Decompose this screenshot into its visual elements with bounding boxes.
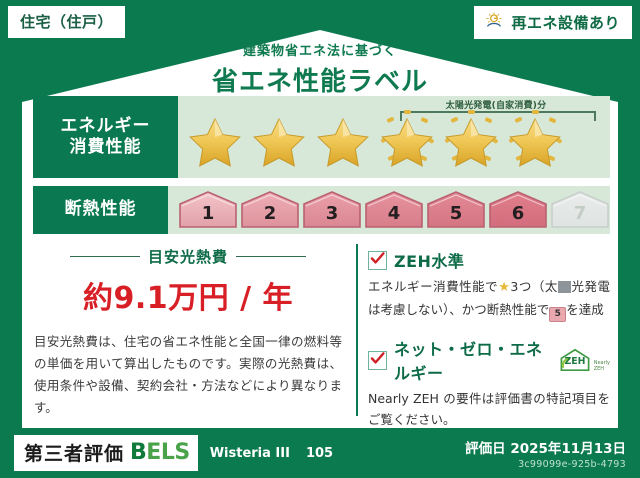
zeh-logo-icon: ZEH NearlyZEH bbox=[558, 348, 610, 372]
insulation-levels-area: 1 2 3 4 5 bbox=[168, 186, 610, 234]
third-party-label: 第三者評価 bbox=[24, 439, 124, 466]
renewable-chip-label: 再エネ設備あり bbox=[511, 12, 620, 33]
insulation-level-1: 1 bbox=[178, 190, 238, 230]
zeh-body-part1: エネルギー消費性能で bbox=[368, 279, 498, 294]
insulation-level-6: 6 bbox=[488, 190, 548, 230]
energy-cost-panel: 目安光熱費 約9.1万円 / 年 目安光熱費は、住宅の省エネ性能と全国一律の燃料… bbox=[30, 244, 346, 416]
certification-panel: ZEH水準 エネルギー消費性能で★3つ（太光発電は考慮しない）、かつ断熱性能で5… bbox=[368, 244, 610, 416]
evaluation-date-value: 2025年11月13日 bbox=[510, 441, 626, 457]
third-party-chip: 第三者評価 BELS bbox=[14, 435, 198, 471]
insulation-level-value: 1 bbox=[202, 203, 215, 230]
title-main: 省エネ性能ラベル bbox=[0, 61, 640, 98]
energy-label-line1: エネルギー bbox=[61, 116, 151, 137]
insulation-level-value: 6 bbox=[512, 203, 525, 230]
insulation-level-value: 7 bbox=[574, 203, 587, 230]
insulation-level-7: 7 bbox=[550, 190, 610, 230]
insulation-level-list: 1 2 3 4 5 bbox=[168, 190, 610, 230]
zeh-checkbox bbox=[368, 251, 387, 270]
bels-logo-els: ELS bbox=[146, 440, 189, 465]
energy-cost-value: 約9.1万円 / 年 bbox=[30, 273, 346, 317]
zeh-logo-subtext: NearlyZEH bbox=[594, 361, 610, 372]
insulation-level-value: 4 bbox=[388, 203, 401, 230]
net-zero-title: ネット・ゼロ・エネルギー bbox=[394, 336, 547, 384]
bels-logo: BELS bbox=[130, 440, 190, 465]
category-chip: 住宅（住戸） bbox=[8, 6, 125, 38]
star-2 bbox=[248, 110, 310, 170]
sun-icon bbox=[484, 10, 504, 34]
label-footer: 第三者評価 BELS Wisteria III 105 評価日 2025年11月… bbox=[0, 428, 640, 478]
energy-label-line2: 消費性能 bbox=[61, 137, 151, 158]
label-card: エネルギー 消費性能 太陽光発電(自家消費)分 bbox=[30, 96, 610, 416]
inline-star-icon: ★ bbox=[498, 280, 510, 295]
title-subtitle: 建築物省エネ法に基づく bbox=[0, 40, 640, 59]
star-1 bbox=[184, 110, 246, 170]
zeh-title: ZEH水準 bbox=[394, 248, 464, 272]
insulation-level-2: 2 bbox=[240, 190, 300, 230]
evaluation-info: 評価日 2025年11月13日 3c99099e-925b-4793 bbox=[465, 437, 626, 470]
insulation-level-value: 2 bbox=[264, 203, 277, 230]
zeh-standard-row: ZEH水準 bbox=[368, 248, 610, 272]
bels-logo-b: B bbox=[130, 440, 146, 465]
insulation-label-box: 断熱性能 bbox=[33, 186, 168, 234]
star-4 bbox=[376, 110, 438, 170]
net-zero-body: Nearly ZEH の要件は評価書の特記項目をご覧ください。 bbox=[368, 388, 610, 431]
net-zero-checkbox bbox=[368, 351, 387, 370]
star-rating bbox=[184, 110, 566, 170]
insulation-level-value: 3 bbox=[326, 203, 339, 230]
evaluation-date: 評価日 2025年11月13日 bbox=[465, 437, 626, 457]
svg-text:ZEH: ZEH bbox=[564, 356, 585, 367]
evaluation-date-label: 評価日 bbox=[465, 441, 506, 457]
net-zero-row: ネット・ゼロ・エネルギー ZEH NearlyZEH bbox=[368, 336, 610, 384]
heading-rule-left bbox=[70, 256, 140, 257]
star-3 bbox=[312, 110, 374, 170]
renewable-equipment-chip: 再エネ設備あり bbox=[474, 6, 632, 39]
energy-performance-label-box: エネルギー 消費性能 bbox=[33, 96, 178, 178]
insulation-level-5: 5 bbox=[426, 190, 486, 230]
zeh-body-part4: を達成 bbox=[566, 302, 604, 317]
energy-stars-area: 太陽光発電(自家消費)分 bbox=[178, 96, 610, 178]
net-zero-block: ネット・ゼロ・エネルギー ZEH NearlyZEH Nearly ZEH の要… bbox=[368, 336, 610, 431]
heading-rule-right bbox=[236, 256, 306, 257]
zeh-body-part2: 3つ（太 bbox=[510, 279, 558, 294]
energy-cost-heading: 目安光熱費 bbox=[30, 246, 346, 267]
insulation-performance-row: 断熱性能 1 2 3 4 bbox=[33, 186, 610, 234]
unit-number: 105 bbox=[306, 446, 333, 461]
star-5 bbox=[440, 110, 502, 170]
energy-performance-row: エネルギー 消費性能 太陽光発電(自家消費)分 bbox=[33, 96, 610, 178]
vertical-divider bbox=[356, 244, 358, 416]
redacted-character bbox=[558, 281, 571, 293]
lower-section: 目安光熱費 約9.1万円 / 年 目安光熱費は、住宅の省エネ性能と全国一律の燃料… bbox=[30, 244, 610, 416]
project-name: Wisteria III bbox=[210, 446, 290, 461]
energy-cost-heading-text: 目安光熱費 bbox=[148, 246, 228, 267]
insulation-level-value: 5 bbox=[450, 203, 463, 230]
evaluation-id: 3c99099e-925b-4793 bbox=[465, 459, 626, 470]
zeh-body: エネルギー消費性能で★3つ（太光発電は考慮しない）、かつ断熱性能で5を達成 bbox=[368, 276, 610, 322]
insulation-level-3: 3 bbox=[302, 190, 362, 230]
insulation-grade-badge: 5 bbox=[549, 307, 566, 322]
star-6 bbox=[504, 110, 566, 170]
energy-performance-label: 住宅（住戸） 再エネ設備あり 建築物省エネ法に基づく 省エネ性能ラベル エネルギ… bbox=[0, 0, 640, 478]
insulation-level-4: 4 bbox=[364, 190, 424, 230]
label-title: 建築物省エネ法に基づく 省エネ性能ラベル bbox=[0, 40, 640, 98]
energy-cost-note: 目安光熱費は、住宅の省エネ性能と全国一律の燃料等の単価を用いて算出したものです。… bbox=[30, 331, 346, 419]
